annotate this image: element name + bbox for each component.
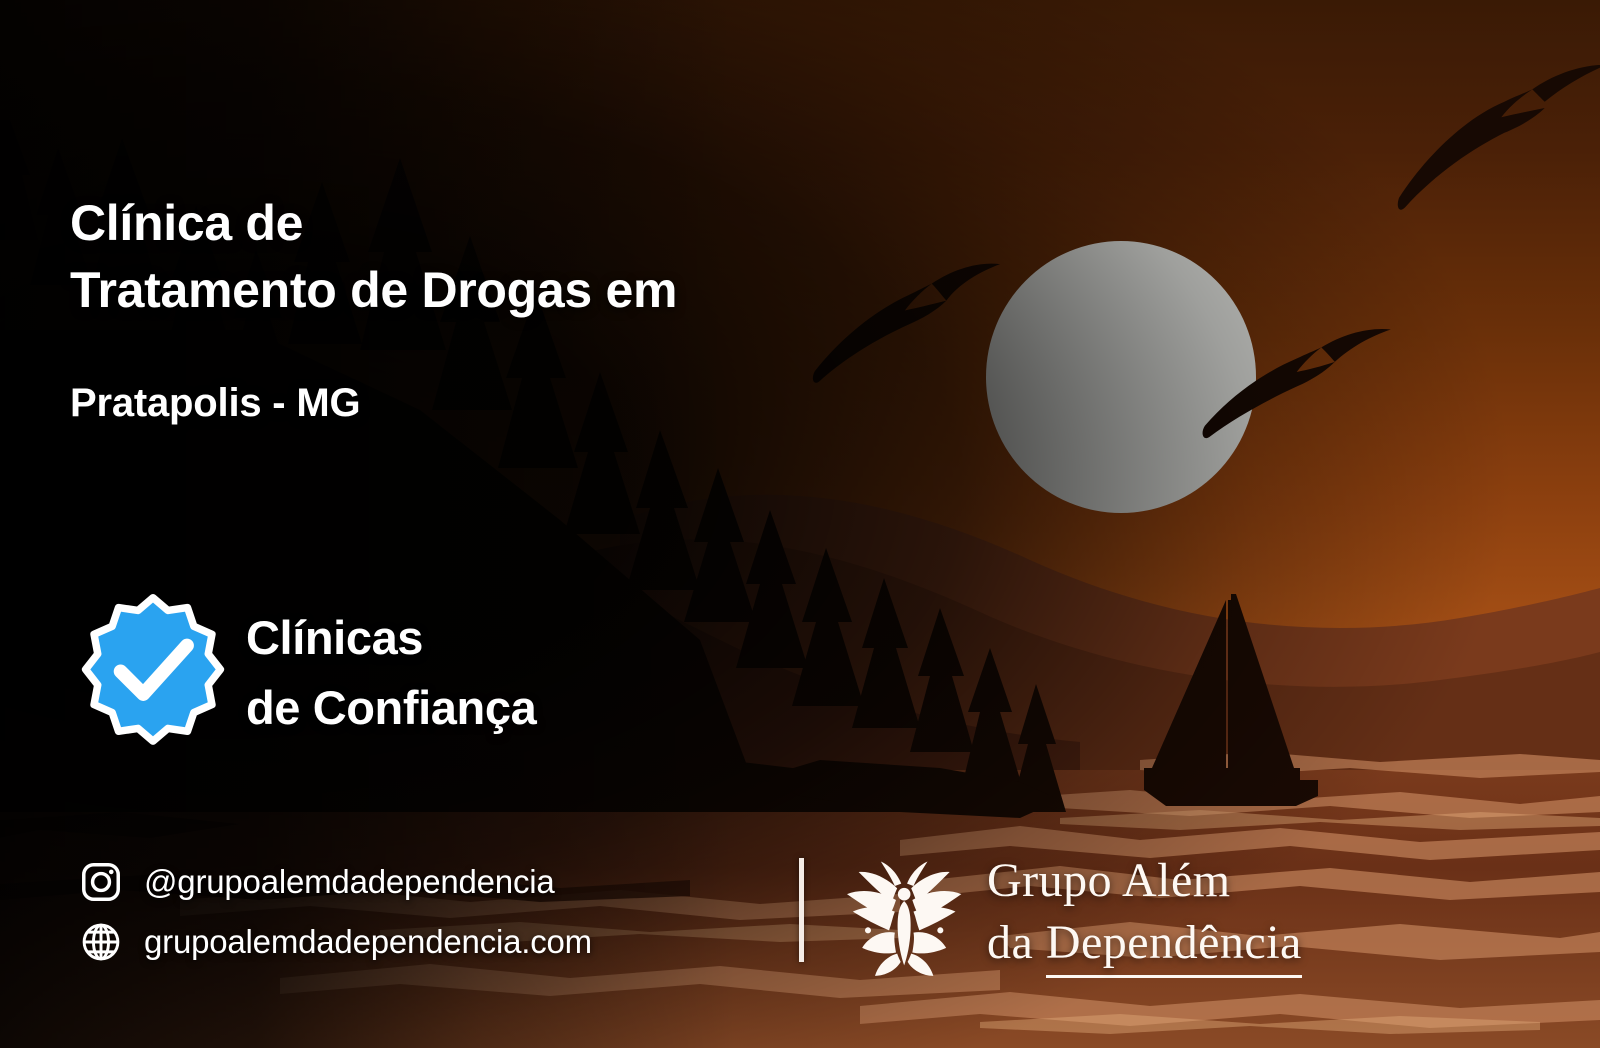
- page-title: Clínica de Tratamento de Drogas em: [70, 190, 970, 323]
- website-url: grupoalemdadependencia.com: [144, 923, 592, 961]
- seagull-top-right: [1398, 65, 1600, 210]
- footer-divider: [799, 858, 804, 962]
- globe-icon: [78, 919, 124, 965]
- seagull-by-sun: [1203, 329, 1391, 438]
- brand-line-1: Grupo Além: [987, 850, 1302, 911]
- headline-line-2: Tratamento de Drogas em: [70, 257, 970, 324]
- brand-line-2-underlined: Dependência: [1046, 912, 1302, 978]
- footer: @grupoalemdadependencia grupoalemdadepen…: [0, 838, 1600, 998]
- sailboat-silhouette: [1144, 594, 1318, 806]
- city-subtitle: Pratapolis - MG: [70, 381, 360, 426]
- instagram-icon: [78, 859, 124, 905]
- brand-logo: Grupo Além da Dependência: [833, 844, 1302, 984]
- contact-instagram[interactable]: @grupoalemdadependencia: [78, 852, 592, 912]
- contact-list: @grupoalemdadependencia grupoalemdadepen…: [78, 852, 592, 972]
- instagram-handle: @grupoalemdadependencia: [144, 863, 555, 901]
- poster-canvas: Clínica de Tratamento de Drogas em Prata…: [0, 0, 1600, 1048]
- brand-line-2: da Dependência: [987, 912, 1302, 978]
- trust-badge: Clínicas de Confiança: [72, 592, 536, 754]
- trust-line-2: de Confiança: [246, 673, 536, 744]
- trust-badge-label: Clínicas de Confiança: [246, 603, 536, 744]
- butterfly-icon: [833, 844, 973, 984]
- brand-name: Grupo Além da Dependência: [987, 850, 1302, 978]
- trust-line-1: Clínicas: [246, 603, 536, 674]
- brand-line-2-prefix: da: [987, 916, 1046, 969]
- headline-line-1: Clínica de: [70, 190, 970, 257]
- contact-website[interactable]: grupoalemdadependencia.com: [78, 912, 592, 972]
- verified-check-badge-icon: [72, 592, 234, 754]
